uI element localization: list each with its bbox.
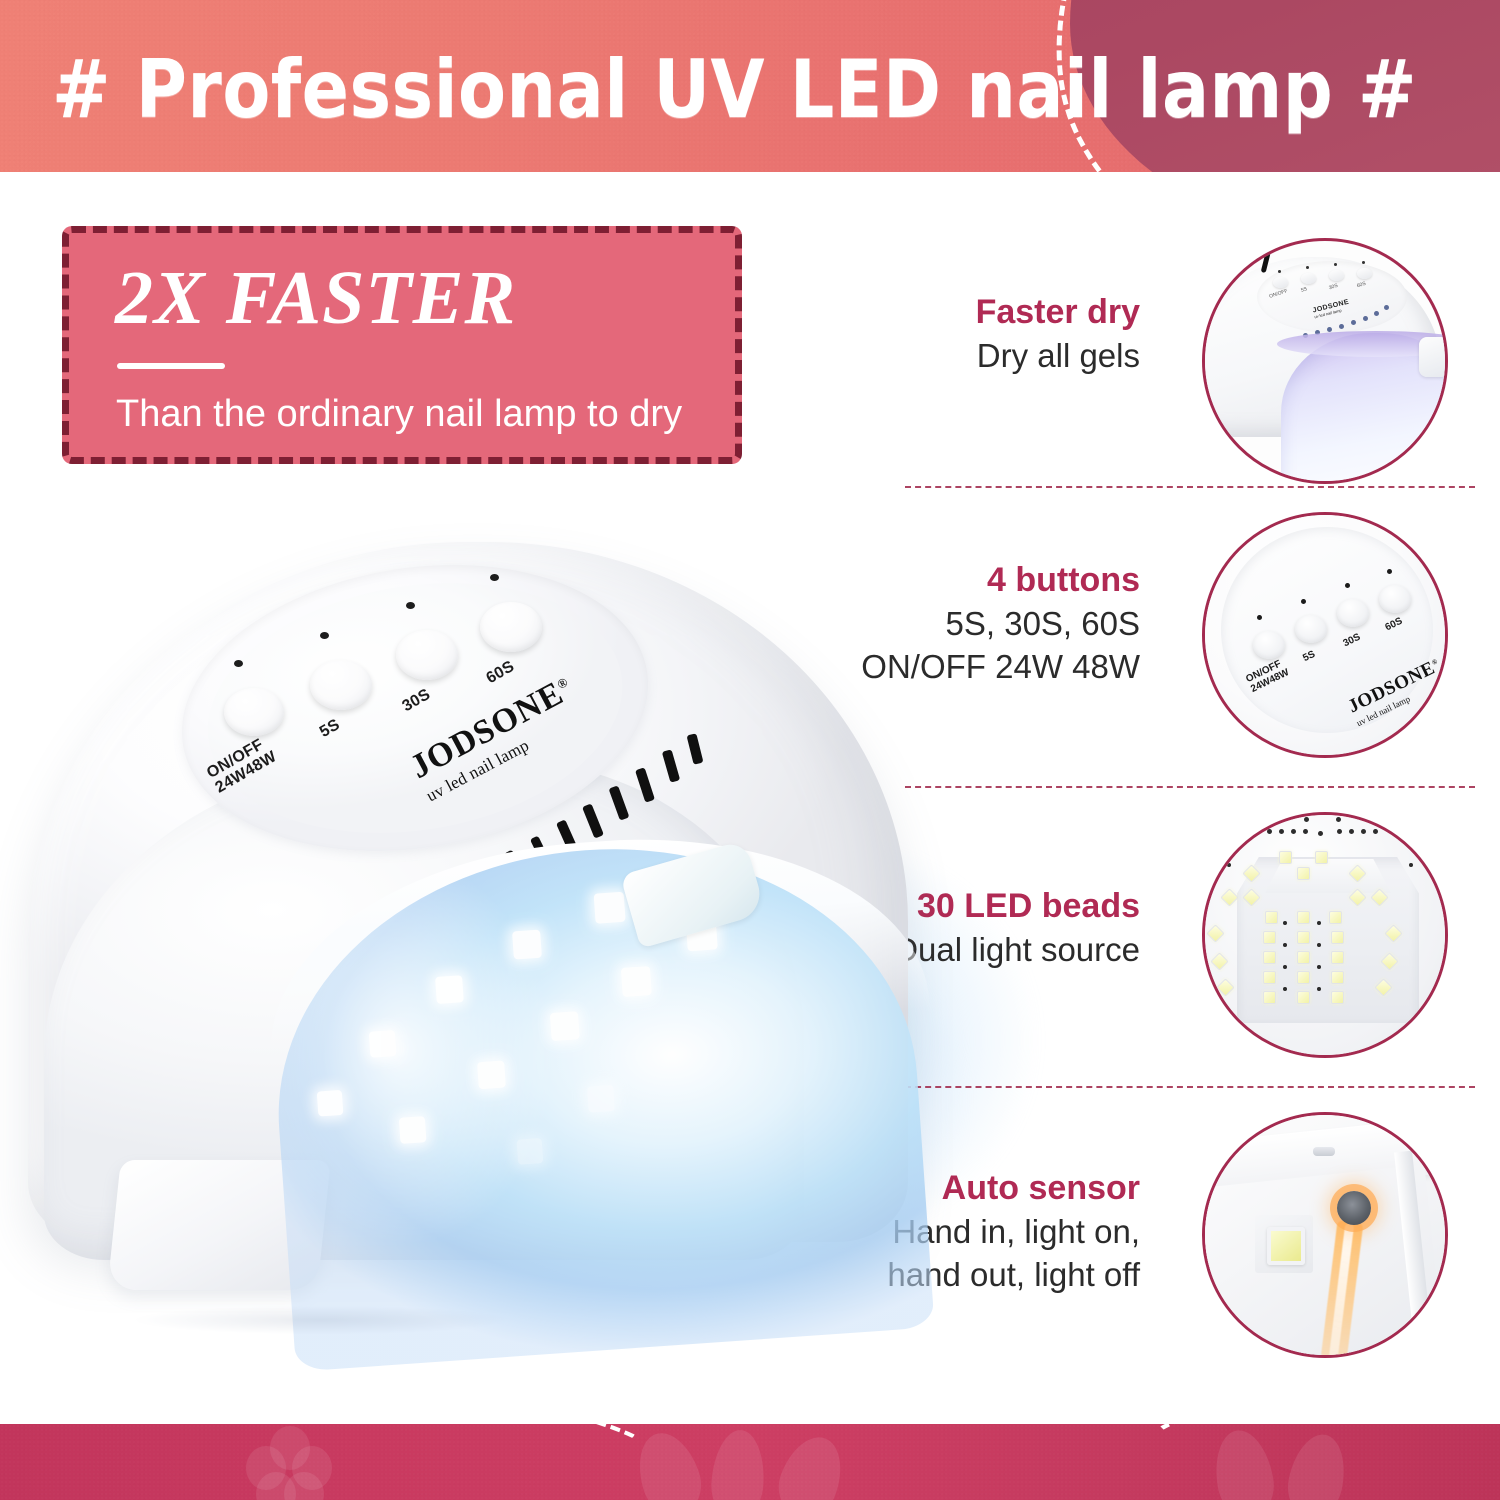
feature-image-lamp-angled-glow-photo: ON/OFF 5S 30S 60S JODSONEuv led nail lam… xyxy=(1202,238,1448,484)
led-bead xyxy=(1297,951,1310,964)
vent-dot xyxy=(1349,829,1354,834)
product-indicator-dot xyxy=(234,660,243,667)
led-square xyxy=(399,1116,427,1144)
vent-dot xyxy=(1327,327,1332,332)
product-indicator-dot xyxy=(406,602,415,609)
product-button-60s xyxy=(480,602,542,652)
led-bead xyxy=(1297,971,1310,984)
indicator-dot xyxy=(1306,266,1309,269)
sensor-dot xyxy=(1317,921,1321,925)
vent-dot xyxy=(1267,829,1272,834)
sensor-dot xyxy=(1317,943,1321,947)
vent-dot xyxy=(1374,311,1379,316)
product-button-30s xyxy=(396,630,458,680)
indicator-dot xyxy=(1278,270,1281,273)
feature-image-led-beads-interior-photo xyxy=(1202,812,1448,1058)
badge-subtitle: Than the ordinary nail lamp to dry xyxy=(116,389,682,439)
feature-image-button-panel-photo: ON/OFF24W48W 5S 30S 60S JODSONE®uv led n… xyxy=(1202,512,1448,758)
sensor-dot xyxy=(1317,987,1321,991)
vent-dot xyxy=(1361,829,1366,834)
feature-divider xyxy=(905,1086,1475,1088)
led-square xyxy=(550,1011,580,1041)
faster-badge: 2X FASTER Than the ordinary nail lamp to… xyxy=(62,226,742,464)
product-indicator-dot xyxy=(320,632,329,639)
badge-title: 2X FASTER xyxy=(115,255,516,341)
led-bead xyxy=(1315,851,1328,864)
indicator-dot xyxy=(1257,615,1262,620)
led-bead xyxy=(1297,991,1310,1004)
led-square xyxy=(594,892,626,924)
vent-dot xyxy=(1384,305,1389,310)
led-square xyxy=(587,1085,615,1113)
vent-dot xyxy=(1363,316,1368,321)
vent-dot xyxy=(1304,817,1309,822)
panel-button xyxy=(1329,270,1344,281)
panel-button xyxy=(1301,273,1316,284)
button-60s xyxy=(1379,585,1411,613)
led-square xyxy=(621,966,652,997)
panel-button xyxy=(1357,268,1372,279)
sensor-dot xyxy=(1317,965,1321,969)
product-button-on-off xyxy=(224,688,284,736)
product-indicator-dot xyxy=(490,574,499,581)
led-bead xyxy=(1297,867,1310,880)
feature-title: Faster dry xyxy=(720,290,1140,334)
button-on-off xyxy=(1253,631,1285,659)
led-bead xyxy=(1265,911,1278,924)
led-square xyxy=(435,975,464,1004)
feature-divider xyxy=(905,486,1475,488)
led-bead xyxy=(1297,911,1310,924)
vent-dot xyxy=(1337,829,1342,834)
indicator-dot xyxy=(1362,261,1365,264)
led-chip xyxy=(1267,1227,1305,1265)
footer-dashed-arc-icon xyxy=(0,1424,690,1500)
side-dot xyxy=(1409,863,1413,867)
side-dot xyxy=(1227,863,1231,867)
vent-dot xyxy=(1336,817,1341,822)
led-bead xyxy=(1297,931,1310,944)
indicator-dot xyxy=(1345,583,1350,588)
sensor-dot xyxy=(1283,943,1287,947)
footer-band xyxy=(0,1424,1500,1500)
led-square xyxy=(317,1090,344,1117)
led-square xyxy=(477,1060,506,1089)
main-product-photo: ON/OFF24W48W 5S 30S 60S JODSONE®uv led n… xyxy=(28,520,918,1320)
indicator-dot xyxy=(1334,263,1337,266)
led-bead xyxy=(1331,971,1344,984)
feature-image-auto-sensor-photo xyxy=(1202,1112,1448,1358)
vent-dot xyxy=(1279,829,1284,834)
sensor-dot xyxy=(1283,965,1287,969)
cavity-top-wall xyxy=(1265,859,1391,893)
panel-button xyxy=(1273,277,1288,288)
screw-slot-icon xyxy=(1313,1147,1335,1156)
led-bead xyxy=(1263,991,1276,1004)
button-5s xyxy=(1295,615,1327,643)
side-tab xyxy=(1419,337,1448,377)
button-30s xyxy=(1337,599,1369,627)
led-bead xyxy=(1329,911,1342,924)
feature-line: Dry all gels xyxy=(720,334,1140,377)
indicator-dot xyxy=(1387,569,1392,574)
sensor-dot xyxy=(1283,921,1287,925)
led-square xyxy=(369,1030,397,1058)
vent-dot xyxy=(1373,829,1378,834)
product-button-5s xyxy=(310,660,372,710)
header-title: # Professional UV LED nail lamp # xyxy=(52,44,1371,136)
vent-dot xyxy=(1291,829,1296,834)
badge-divider-rule xyxy=(117,363,225,369)
footer-dashed-arc-icon xyxy=(1110,1424,1500,1500)
led-bead xyxy=(1263,951,1276,964)
led-bead xyxy=(1331,951,1344,964)
vent-dot xyxy=(1339,324,1344,329)
led-bead xyxy=(1331,991,1344,1004)
led-bead xyxy=(1263,971,1276,984)
led-bead xyxy=(1263,931,1276,944)
led-bead xyxy=(1331,931,1344,944)
indicator-dot xyxy=(1301,599,1306,604)
feature-divider xyxy=(905,786,1475,788)
led-square xyxy=(512,930,542,960)
vent-dot xyxy=(1303,829,1308,834)
feature-text-faster-dry: Faster dry Dry all gels xyxy=(720,290,1140,377)
sensor-port xyxy=(1318,831,1323,836)
vent-dot xyxy=(1351,320,1356,325)
header-banner: # Professional UV LED nail lamp # xyxy=(0,0,1500,172)
infrared-sensor-icon xyxy=(1337,1191,1371,1225)
led-bead xyxy=(1279,851,1292,864)
product-ground-shadow xyxy=(60,1300,580,1340)
infographic-canvas: # Professional UV LED nail lamp # 2X FAS… xyxy=(0,0,1500,1500)
sensor-dot xyxy=(1283,987,1287,991)
led-square xyxy=(517,1138,544,1165)
